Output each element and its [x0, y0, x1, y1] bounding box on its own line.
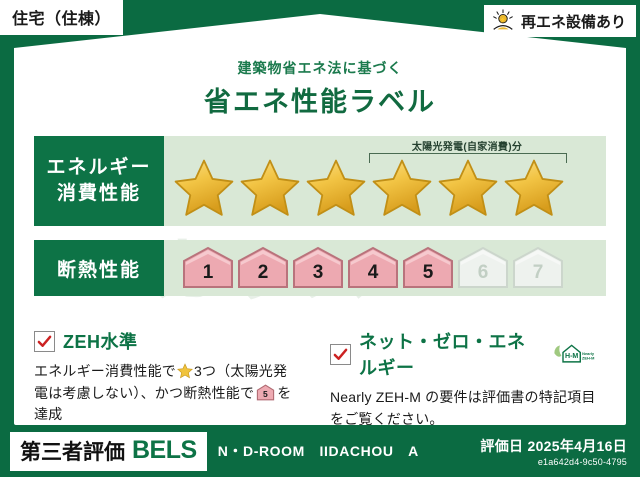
insulation-performance-row: 断熱性能 1234567: [34, 240, 606, 296]
inline-level-badge-icon: 5: [256, 384, 275, 401]
insulation-level-3: 3: [292, 246, 344, 290]
insulation-level-5: 5: [402, 246, 454, 290]
checkbox-checked-icon: [34, 331, 55, 352]
zeh-m-icon: H-M Nearly ZEH-M: [550, 341, 596, 367]
energy-performance-label: 住宅（住棟） ⚡ 再エネ設備あり 建築物省エネ法に基づく 省エネ性能ラベル カラ…: [0, 0, 640, 477]
zeh-desc-pre: エネルギー消費性能で: [34, 363, 176, 379]
svg-text:5: 5: [263, 389, 268, 399]
solar-generation-note: 太陽光発電(自家消費)分: [369, 138, 565, 153]
insulation-level-number: 6: [478, 262, 489, 290]
criterion-net-zero-energy: ネット・ゼロ・エネルギー H-M Nearly ZEH-M Nearly ZEH…: [330, 328, 596, 430]
insulation-label: 断熱性能: [57, 255, 141, 282]
insulation-level-number: 2: [258, 262, 269, 290]
insulation-level-1: 1: [182, 246, 234, 290]
inline-star-icon: [177, 363, 193, 379]
svg-text:⚡: ⚡: [500, 15, 507, 23]
insulation-level-scale: 1234567: [182, 246, 564, 290]
svg-text:ZEH-M: ZEH-M: [582, 356, 594, 361]
sun-icon: ⚡: [490, 8, 516, 34]
energy-star-rating: [172, 157, 566, 219]
insulation-level-number: 3: [313, 262, 324, 290]
evaluation-date: 評価日 2025年4月16日: [480, 436, 627, 456]
star-icon: [370, 157, 434, 219]
criterion-zeh-description: エネルギー消費性能で3つ（太陽光発電は考慮しない）、かつ断熱性能で5を達成: [34, 361, 300, 426]
label-footer: 第三者評価 BELS N・D-ROOM IIDACHOU A 評価日 2025年…: [0, 425, 640, 477]
star-icon: [502, 157, 566, 219]
insulation-level-7: 7: [512, 246, 564, 290]
energy-row-body: 太陽光発電(自家消費)分: [164, 136, 606, 226]
svg-text:H-M: H-M: [565, 353, 578, 360]
property-name: N・D-ROOM IIDACHOU A: [218, 441, 419, 461]
evaluation-meta: 評価日 2025年4月16日 e1a642d4-9c50-4795: [480, 436, 627, 467]
criterion-nze-title: ネット・ゼロ・エネルギー: [359, 328, 542, 380]
renewable-badge-label: 再エネ設備あり: [521, 11, 626, 32]
star-icon: [238, 157, 302, 219]
bels-logo-en: BELS: [132, 436, 197, 465]
star-icon: [436, 157, 500, 219]
insulation-row-label: 断熱性能: [34, 240, 164, 296]
evaluation-id: e1a642d4-9c50-4795: [480, 457, 627, 467]
building-type-tag: 住宅（住棟）: [0, 0, 123, 35]
label-title: 省エネ性能ラベル: [0, 80, 640, 119]
bels-logo: 第三者評価 BELS: [10, 432, 207, 471]
star-icon: [172, 157, 236, 219]
renewable-equipment-badge: ⚡ 再エネ設備あり: [484, 5, 636, 37]
insulation-level-number: 7: [533, 262, 544, 290]
label-subtitle: 建築物省エネ法に基づく: [0, 58, 640, 78]
insulation-row-body: 1234567: [164, 240, 606, 296]
insulation-level-4: 4: [347, 246, 399, 290]
star-icon: [304, 157, 368, 219]
criterion-zeh-standard: ZEH水準 エネルギー消費性能で3つ（太陽光発電は考慮しない）、かつ断熱性能で5…: [34, 328, 300, 426]
insulation-level-number: 4: [368, 262, 379, 290]
insulation-level-number: 1: [203, 262, 214, 290]
energy-label-line2: 消費性能: [57, 181, 141, 207]
criterion-nze-header: ネット・ゼロ・エネルギー H-M Nearly ZEH-M: [330, 328, 596, 380]
solar-bracket: [369, 153, 567, 163]
energy-label-line1: エネルギー: [46, 155, 151, 181]
insulation-level-6: 6: [457, 246, 509, 290]
criterion-zeh-title: ZEH水準: [63, 328, 138, 354]
bels-logo-jp: 第三者評価: [20, 436, 125, 466]
energy-row-label: エネルギー 消費性能: [34, 136, 164, 226]
energy-performance-row: エネルギー 消費性能 太陽光発電(自家消費)分: [34, 136, 606, 226]
insulation-level-number: 5: [423, 262, 434, 290]
criterion-nze-description: Nearly ZEH-M の要件は評価書の特記項目をご覧ください。: [330, 387, 596, 430]
criterion-zeh-header: ZEH水準: [34, 328, 300, 354]
insulation-level-2: 2: [237, 246, 289, 290]
checkbox-checked-icon: [330, 344, 351, 365]
